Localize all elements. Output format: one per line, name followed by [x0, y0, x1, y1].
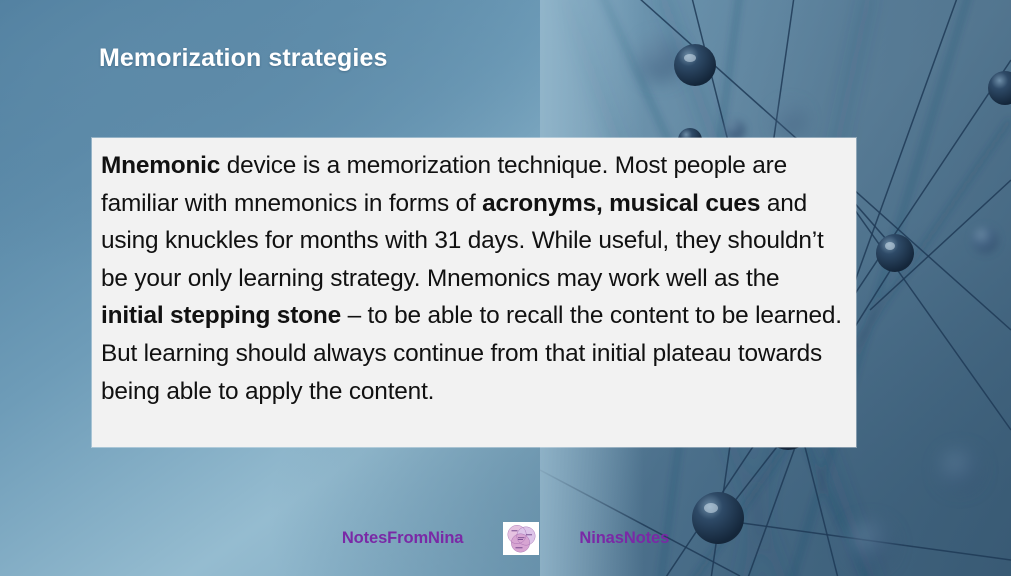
- body-paragraph-2: But learning should always continue from…: [101, 335, 844, 410]
- slide-title: Memorization strategies: [99, 44, 387, 73]
- bold-run-mnemonic: Mnemonic: [101, 152, 220, 179]
- content-text-box: Mnemonic device is a memorization techni…: [92, 138, 856, 447]
- venn-diagram-logo-icon: [503, 522, 539, 555]
- text-run-3: – to be able to recall the content to be…: [341, 302, 842, 329]
- presentation-slide: Memorization strategies Mnemonic device …: [0, 0, 1011, 576]
- body-paragraph-1: Mnemonic device is a memorization techni…: [101, 147, 844, 335]
- bold-run-acronyms: acronyms, musical cues: [482, 190, 760, 217]
- handle-notesfromnina[interactable]: NotesFromNina: [342, 529, 464, 548]
- footer-branding: NotesFromNina: [0, 518, 1011, 558]
- bold-run-stepping-stone: initial stepping stone: [101, 302, 341, 329]
- handle-ninasnotes[interactable]: NinasNotes: [579, 529, 669, 548]
